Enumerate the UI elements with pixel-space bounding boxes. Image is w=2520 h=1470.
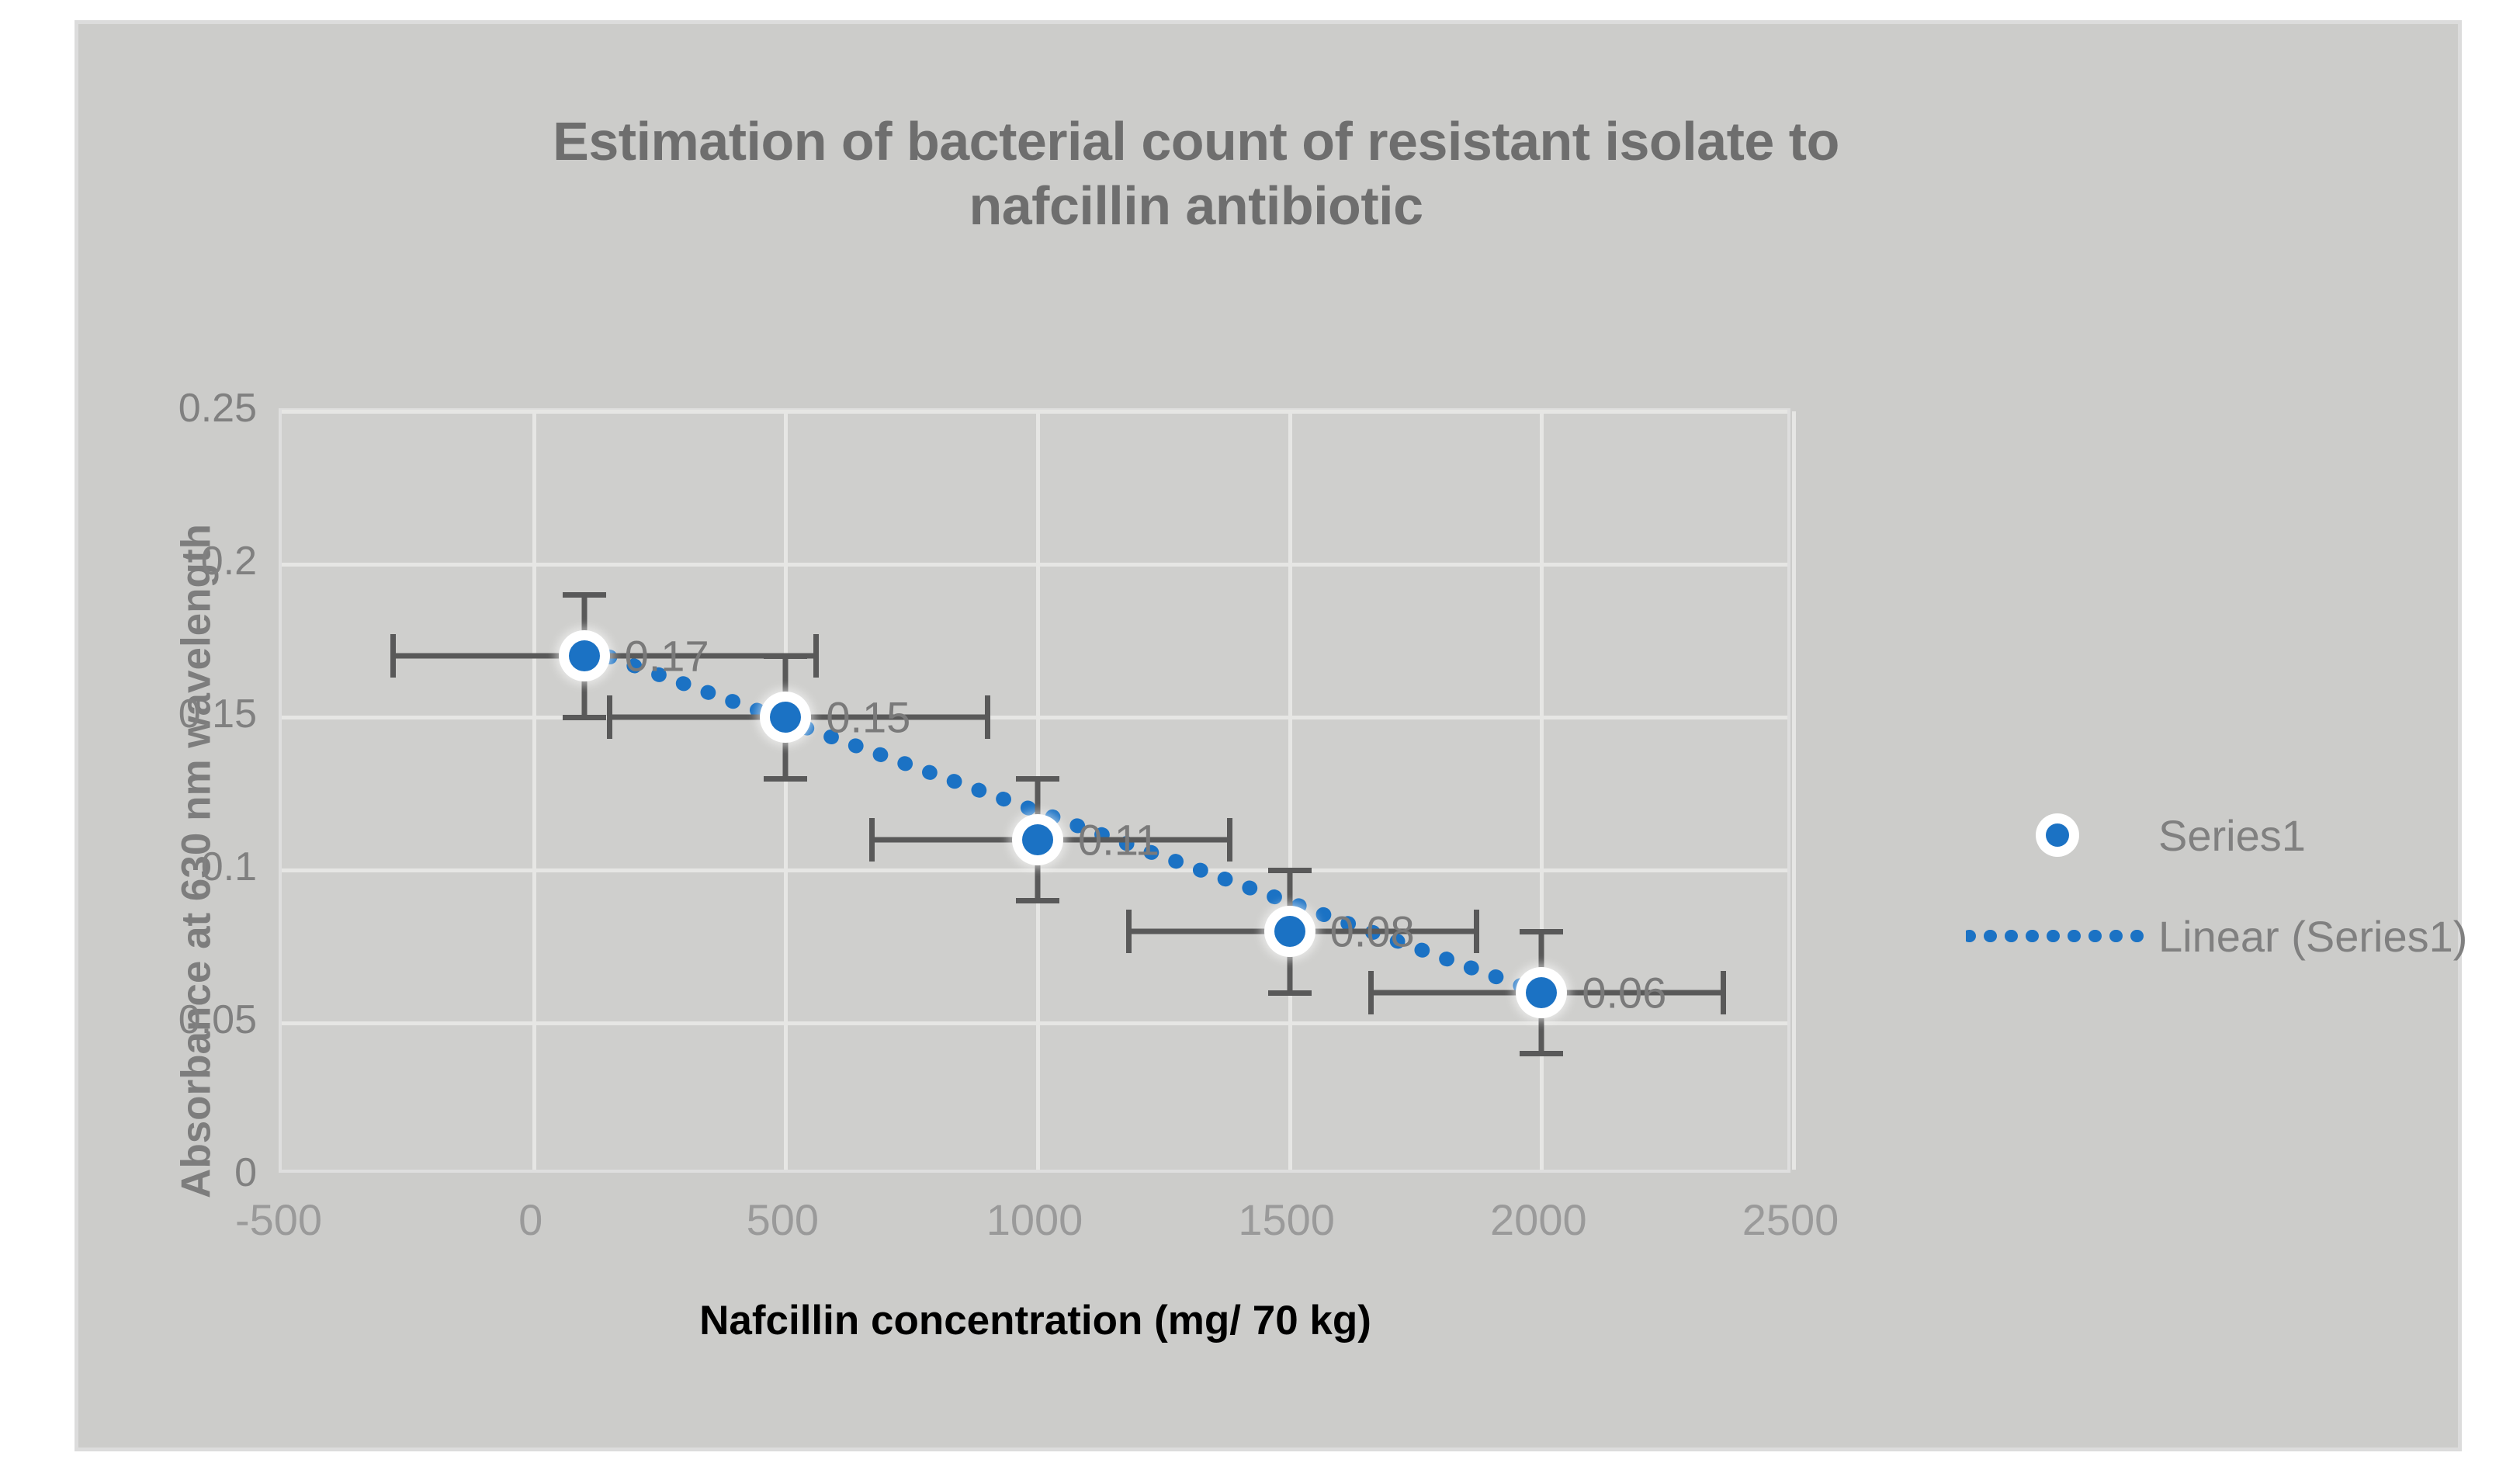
plot-area: 0.170.150.110.080.06 (279, 408, 1790, 1173)
error-bar-vertical-cap (764, 776, 807, 782)
error-bar-vertical-cap (1520, 1051, 1563, 1056)
legend-label-trendline: Linear (Series1) (2158, 911, 2467, 962)
error-bar-horizontal-cap (607, 695, 612, 739)
x-axis-tick-label: 0 (518, 1194, 542, 1245)
data-point-marker[interactable] (1264, 906, 1315, 957)
error-bar-horizontal-cap (1474, 910, 1479, 953)
error-bar-horizontal-cap (813, 634, 819, 678)
error-bar-horizontal-cap (985, 695, 990, 739)
gridline-horizontal (282, 1021, 1787, 1025)
y-axis-tick-label: 0 (78, 1149, 257, 1196)
chart-title: Estimation of bacterial count of resista… (218, 109, 2174, 237)
x-axis-tick-label: 500 (747, 1194, 819, 1245)
error-bar-horizontal-cap (1368, 971, 1374, 1014)
y-axis-tick-label: 0.25 (78, 385, 257, 432)
chart-frame: Estimation of bacterial count of resista… (75, 20, 2462, 1451)
x-axis-tick-label: 1500 (1238, 1194, 1335, 1245)
data-point-marker[interactable] (1516, 967, 1567, 1018)
error-bar-vertical-cap (764, 654, 807, 659)
error-bar-horizontal-cap (869, 818, 875, 862)
y-axis-tick-label: 0.2 (78, 538, 257, 584)
data-point-label: 0.11 (1078, 814, 1159, 865)
error-bar-horizontal-cap (1227, 818, 1232, 862)
legend-item-series1[interactable]: Series1 (1957, 785, 2500, 886)
gridline-horizontal (282, 410, 1787, 414)
error-bar-vertical-cap (1016, 776, 1059, 782)
error-bar-horizontal-cap (1126, 910, 1132, 953)
chart-title-line1: Estimation of bacterial count of resista… (218, 109, 2174, 174)
error-bar-vertical-cap (563, 592, 606, 598)
y-axis-tick-label: 0.15 (78, 691, 257, 737)
chart-legend: Series1 Linear (Series1) (1957, 785, 2500, 986)
chart-screenshot: Estimation of bacterial count of resista… (0, 0, 2520, 1470)
error-bar-vertical-cap (1268, 868, 1312, 873)
y-axis-tick-label: 0.05 (78, 997, 257, 1043)
x-axis-title: Nafcillin concentration (mg/ 70 kg) (279, 1297, 1792, 1344)
data-point-marker[interactable] (559, 630, 610, 681)
x-axis-tick-label: 1000 (986, 1194, 1083, 1245)
data-point-marker[interactable] (1012, 814, 1063, 865)
x-axis-tick-label: -500 (235, 1194, 322, 1245)
data-point-label: 0.17 (625, 631, 709, 681)
gridline-horizontal (282, 716, 1787, 719)
gridline-vertical (1288, 411, 1292, 1170)
error-bar-horizontal-cap (1721, 971, 1726, 1014)
legend-label-series1: Series1 (2158, 810, 2306, 861)
gridline-vertical (1792, 411, 1796, 1170)
legend-item-trendline[interactable]: Linear (Series1) (1957, 886, 2500, 986)
chart-title-line2: nafcillin antibiotic (218, 174, 2174, 238)
y-axis-tick-label: 0.1 (78, 844, 257, 890)
error-bar-vertical-cap (563, 715, 606, 720)
error-bar-vertical-cap (1520, 929, 1563, 934)
error-bar-horizontal-cap (390, 634, 396, 678)
data-point-marker[interactable] (760, 692, 811, 743)
error-bar-vertical-cap (1016, 898, 1059, 903)
data-point-label: 0.06 (1582, 967, 1666, 1018)
data-point-label: 0.15 (826, 692, 910, 743)
data-point-label: 0.08 (1330, 906, 1415, 956)
x-axis-tick-label: 2500 (1742, 1194, 1839, 1245)
gridline-vertical (784, 411, 788, 1170)
gridline-horizontal (282, 563, 1787, 567)
error-bar-vertical-cap (1268, 990, 1312, 996)
gridline-vertical (532, 411, 536, 1170)
legend-dotted-line-icon (1957, 930, 2158, 942)
x-axis-tick-label: 2000 (1490, 1194, 1587, 1245)
legend-marker-icon (1957, 813, 2158, 857)
